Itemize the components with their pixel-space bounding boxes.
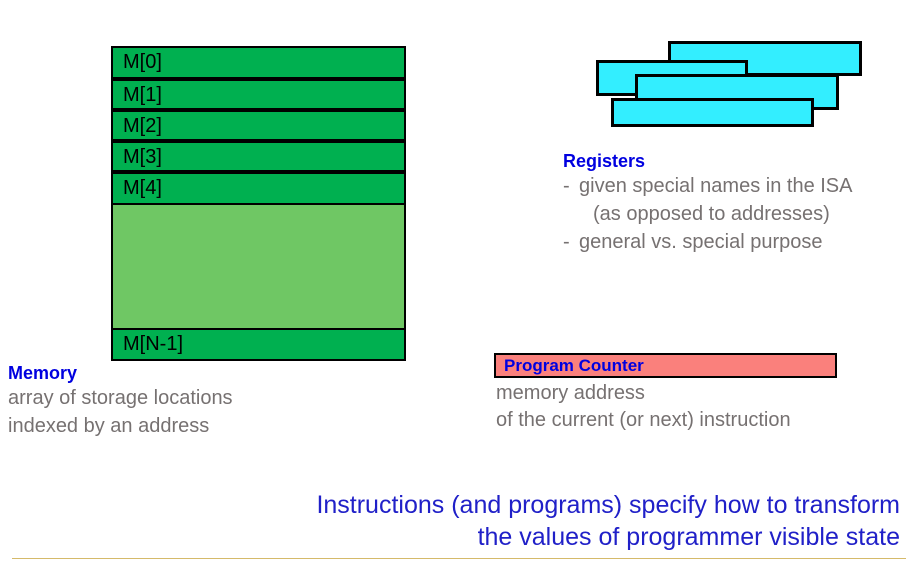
memory-caption: Memory array of storage locations indexe… xyxy=(8,362,233,440)
memory-block: M[0] M[1] M[2] M[3] M[4] M[N-1] xyxy=(111,46,406,361)
memory-description-line-2: indexed by an address xyxy=(8,413,233,440)
registers-bullet-1-continuation: (as opposed to addresses) xyxy=(563,200,853,228)
program-counter-label: Program Counter xyxy=(496,355,835,376)
program-counter-box: Program Counter xyxy=(494,353,837,378)
memory-cell-0: M[0] xyxy=(113,46,404,79)
memory-title: Memory xyxy=(8,362,233,384)
memory-cell-1: M[1] xyxy=(113,79,404,110)
memory-elision-gap xyxy=(113,205,404,328)
footer-statement: Instructions (and programs) specify how … xyxy=(0,489,900,553)
memory-cell-2: M[2] xyxy=(113,110,404,141)
memory-cell-label: M[3] xyxy=(123,146,162,168)
memory-cell-4: M[4] xyxy=(113,172,404,205)
memory-description-line-1: array of storage locations xyxy=(8,385,233,412)
registers-bullet-1-text: given special names in the ISA xyxy=(579,172,853,200)
bullet-dash-icon: - xyxy=(563,228,579,256)
footer-statement-line-1: Instructions (and programs) specify how … xyxy=(0,489,900,521)
footer-statement-line-2: the values of programmer visible state xyxy=(0,521,900,553)
memory-cell-last: M[N-1] xyxy=(113,328,404,361)
memory-cell-label: M[0] xyxy=(123,51,162,73)
memory-cell-3: M[3] xyxy=(113,141,404,172)
memory-cell-label: M[N-1] xyxy=(123,333,183,355)
registers-bullet-2: - general vs. special purpose xyxy=(563,228,853,256)
registers-title: Registers xyxy=(563,150,853,172)
program-counter-description-line-1: memory address xyxy=(496,380,791,407)
memory-cell-label: M[2] xyxy=(123,115,162,137)
memory-cell-label: M[4] xyxy=(123,177,162,199)
program-counter-caption: memory address of the current (or next) … xyxy=(496,380,791,434)
registers-caption: Registers - given special names in the I… xyxy=(563,150,853,256)
register-box-bottom xyxy=(611,98,814,127)
registers-bullet-2-text: general vs. special purpose xyxy=(579,228,822,256)
registers-bullet-1: - given special names in the ISA xyxy=(563,172,853,200)
program-counter-description-line-2: of the current (or next) instruction xyxy=(496,407,791,434)
bullet-dash-icon: - xyxy=(563,172,579,200)
memory-cell-label: M[1] xyxy=(123,84,162,106)
bottom-divider-rule xyxy=(12,558,906,559)
